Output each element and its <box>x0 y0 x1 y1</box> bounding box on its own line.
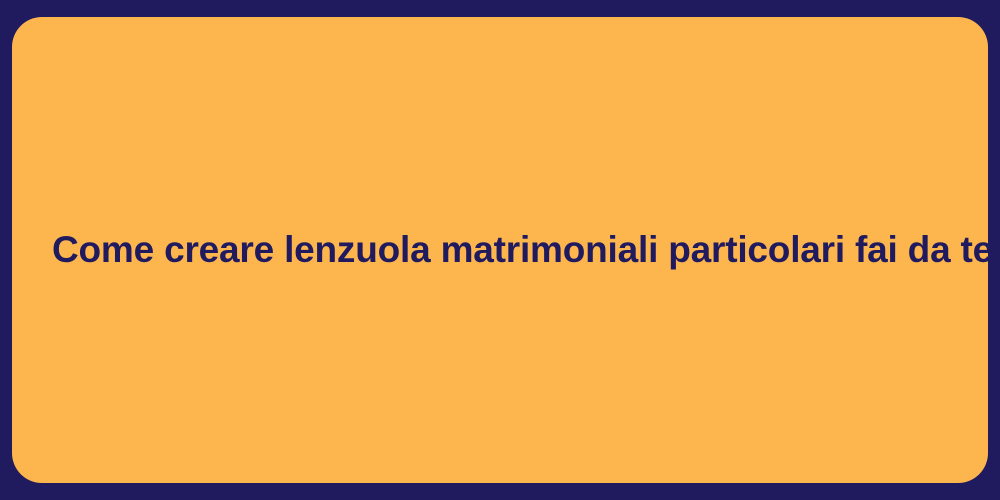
card-frame: Come creare lenzuola matrimoniali partic… <box>0 0 1000 500</box>
page-title: Come creare lenzuola matrimoniali partic… <box>12 226 988 273</box>
card-panel: Come creare lenzuola matrimoniali partic… <box>12 17 988 483</box>
